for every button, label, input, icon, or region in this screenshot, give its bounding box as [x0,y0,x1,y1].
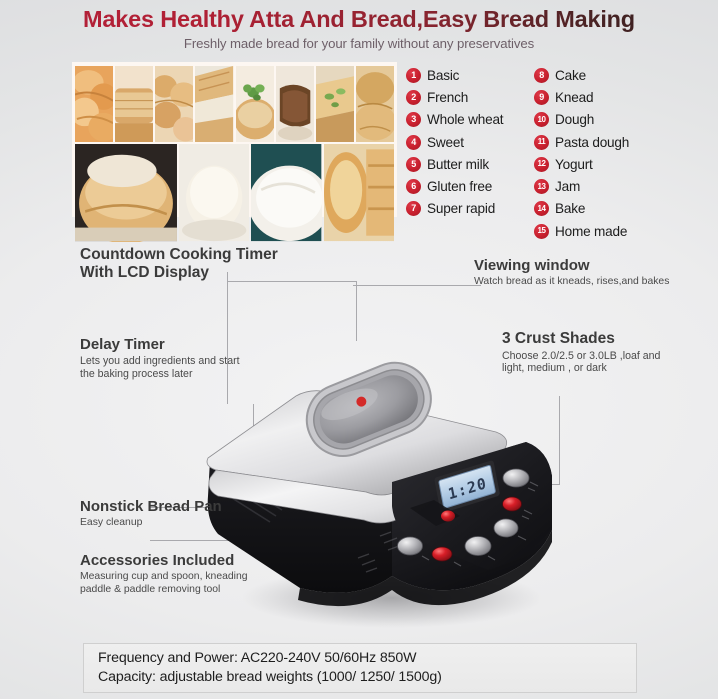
program-badge-icon: 3 [406,112,421,127]
button-red-2 [432,547,452,561]
collage-tile-whole-grain-loaf [356,66,394,142]
button-silver-1 [503,469,529,487]
page-title: Makes Healthy Atta And Bread,Easy Bread … [0,6,718,33]
collage-tile-dark-rye-slice [276,66,314,142]
program-item-knead[interactable]: 9 Knead [534,86,709,108]
program-label: Yogurt [555,157,593,172]
program-item-cake[interactable]: 8 Cake [534,64,709,86]
program-badge-icon: 1 [406,68,421,83]
program-item-home-made[interactable]: 15 Home made [534,220,709,242]
program-column-2: 8 Cake 9 Knead 10 Dough 11 Pasta dough 1… [534,64,709,244]
button-red-1 [503,497,522,511]
program-badge-icon: 2 [406,90,421,105]
program-label: Gluten free [427,179,492,194]
collage-row-top [75,66,394,142]
program-list: 1 Basic 2 French 3 Whole wheat 4 Sweet 5… [406,64,714,244]
callout-countdown-timer: Countdown Cooking Timer With LCD Display [80,246,280,281]
program-item-super-rapid[interactable]: 7 Super rapid [406,198,524,220]
program-label: Pasta dough [555,135,629,150]
callout-heading: Delay Timer [80,336,250,353]
program-label: Whole wheat [427,112,503,127]
program-item-yogurt[interactable]: 12 Yogurt [534,153,709,175]
callout-heading: Viewing window [474,257,674,274]
callout-crust-shades: 3 Crust Shades Choose 2.0/2.5 or 3.0LB ,… [502,330,682,375]
header: Makes Healthy Atta And Bread,Easy Bread … [0,6,718,51]
leader-line-viewing-horizontal [353,285,481,286]
spec-capacity: Capacity: adjustable bread weights (1000… [98,668,622,687]
program-label: Bake [555,201,585,216]
collage-tile-loaf-with-herbs [236,66,274,142]
callout-body: Lets you add ingredients and start the b… [80,355,250,380]
program-item-gluten-free[interactable]: 6 Gluten free [406,175,524,197]
callout-heading: 3 Crust Shades [502,330,682,348]
callout-heading: Countdown Cooking Timer With LCD Display [80,246,280,281]
callout-body: Easy cleanup [80,517,250,529]
program-badge-icon: 8 [534,68,549,83]
collage-tile-herb-topped-flatbread [316,66,354,142]
callout-body: Measuring cup and spoon, kneading paddle… [80,571,265,596]
collage-tile-bread-rolls [155,66,193,142]
program-badge-icon: 9 [534,90,549,105]
program-label: Jam [555,179,580,194]
program-item-pasta-dough[interactable]: 11 Pasta dough [534,131,709,153]
program-item-whole-wheat[interactable]: 3 Whole wheat [406,109,524,131]
button-silver-3 [465,537,491,556]
collage-tile-sliced-loaf [115,66,153,142]
collage-tile-powdered-sugar-bread [75,144,177,241]
program-label: Butter milk [427,157,489,172]
program-badge-icon: 5 [406,157,421,172]
program-label: Home made [555,224,627,239]
program-label: Basic [427,68,459,83]
specification-bar: Frequency and Power: AC220-240V 50/60Hz … [83,643,637,693]
program-label: French [427,90,468,105]
callout-body: Watch bread as it kneads, rises,and bake… [474,276,674,288]
collage-tile-croissants-pastry [75,66,113,142]
program-badge-icon: 12 [534,157,549,172]
button-silver-2 [494,519,518,537]
button-red-indicator [441,511,455,522]
program-badge-icon: 13 [534,179,549,194]
infographic-page: Makes Healthy Atta And Bread,Easy Bread … [0,0,718,699]
program-label: Dough [555,112,594,127]
callout-heading: Accessories Included [80,552,265,569]
program-item-jam[interactable]: 13 Jam [534,175,709,197]
program-item-dough[interactable]: 10 Dough [534,109,709,131]
collage-tile-baguettes-in-cloth [195,66,233,142]
program-badge-icon: 10 [534,112,549,127]
program-badge-icon: 15 [534,224,549,239]
collage-tile-yogurt-bowl [251,144,321,241]
program-label: Knead [555,90,593,105]
callout-nonstick-bread-pan: Nonstick Bread Pan Easy cleanup [80,498,250,530]
spec-frequency-power: Frequency and Power: AC220-240V 50/60Hz … [98,649,622,668]
page-subtitle: Freshly made bread for your family witho… [0,36,718,51]
food-collage [72,62,397,217]
callout-accessories-included: Accessories Included Measuring cup and s… [80,552,265,596]
collage-tile-raw-dough-ball [179,144,249,241]
program-badge-icon: 11 [534,135,549,150]
button-silver-4 [398,537,423,555]
program-label: Sweet [427,135,464,150]
callout-delay-timer: Delay Timer Lets you add ingredients and… [80,336,250,381]
collage-row-bottom [75,144,394,241]
callout-viewing-window: Viewing window Watch bread as it kneads,… [474,257,674,289]
program-item-french[interactable]: 2 French [406,86,524,108]
program-label: Super rapid [427,201,495,216]
program-item-sweet[interactable]: 4 Sweet [406,131,524,153]
program-badge-icon: 14 [534,201,549,216]
callout-body: Choose 2.0/2.5 or 3.0LB ,loaf and light,… [502,350,682,375]
program-badge-icon: 7 [406,201,421,216]
program-badge-icon: 4 [406,135,421,150]
program-column-1: 1 Basic 2 French 3 Whole wheat 4 Sweet 5… [406,64,524,244]
collage-tile-sliced-sweet-bread [324,144,394,241]
program-item-basic[interactable]: 1 Basic [406,64,524,86]
program-badge-icon: 6 [406,179,421,194]
program-item-butter-milk[interactable]: 5 Butter milk [406,153,524,175]
callout-heading: Nonstick Bread Pan [80,498,250,515]
program-item-bake[interactable]: 14 Bake [534,198,709,220]
program-label: Cake [555,68,586,83]
